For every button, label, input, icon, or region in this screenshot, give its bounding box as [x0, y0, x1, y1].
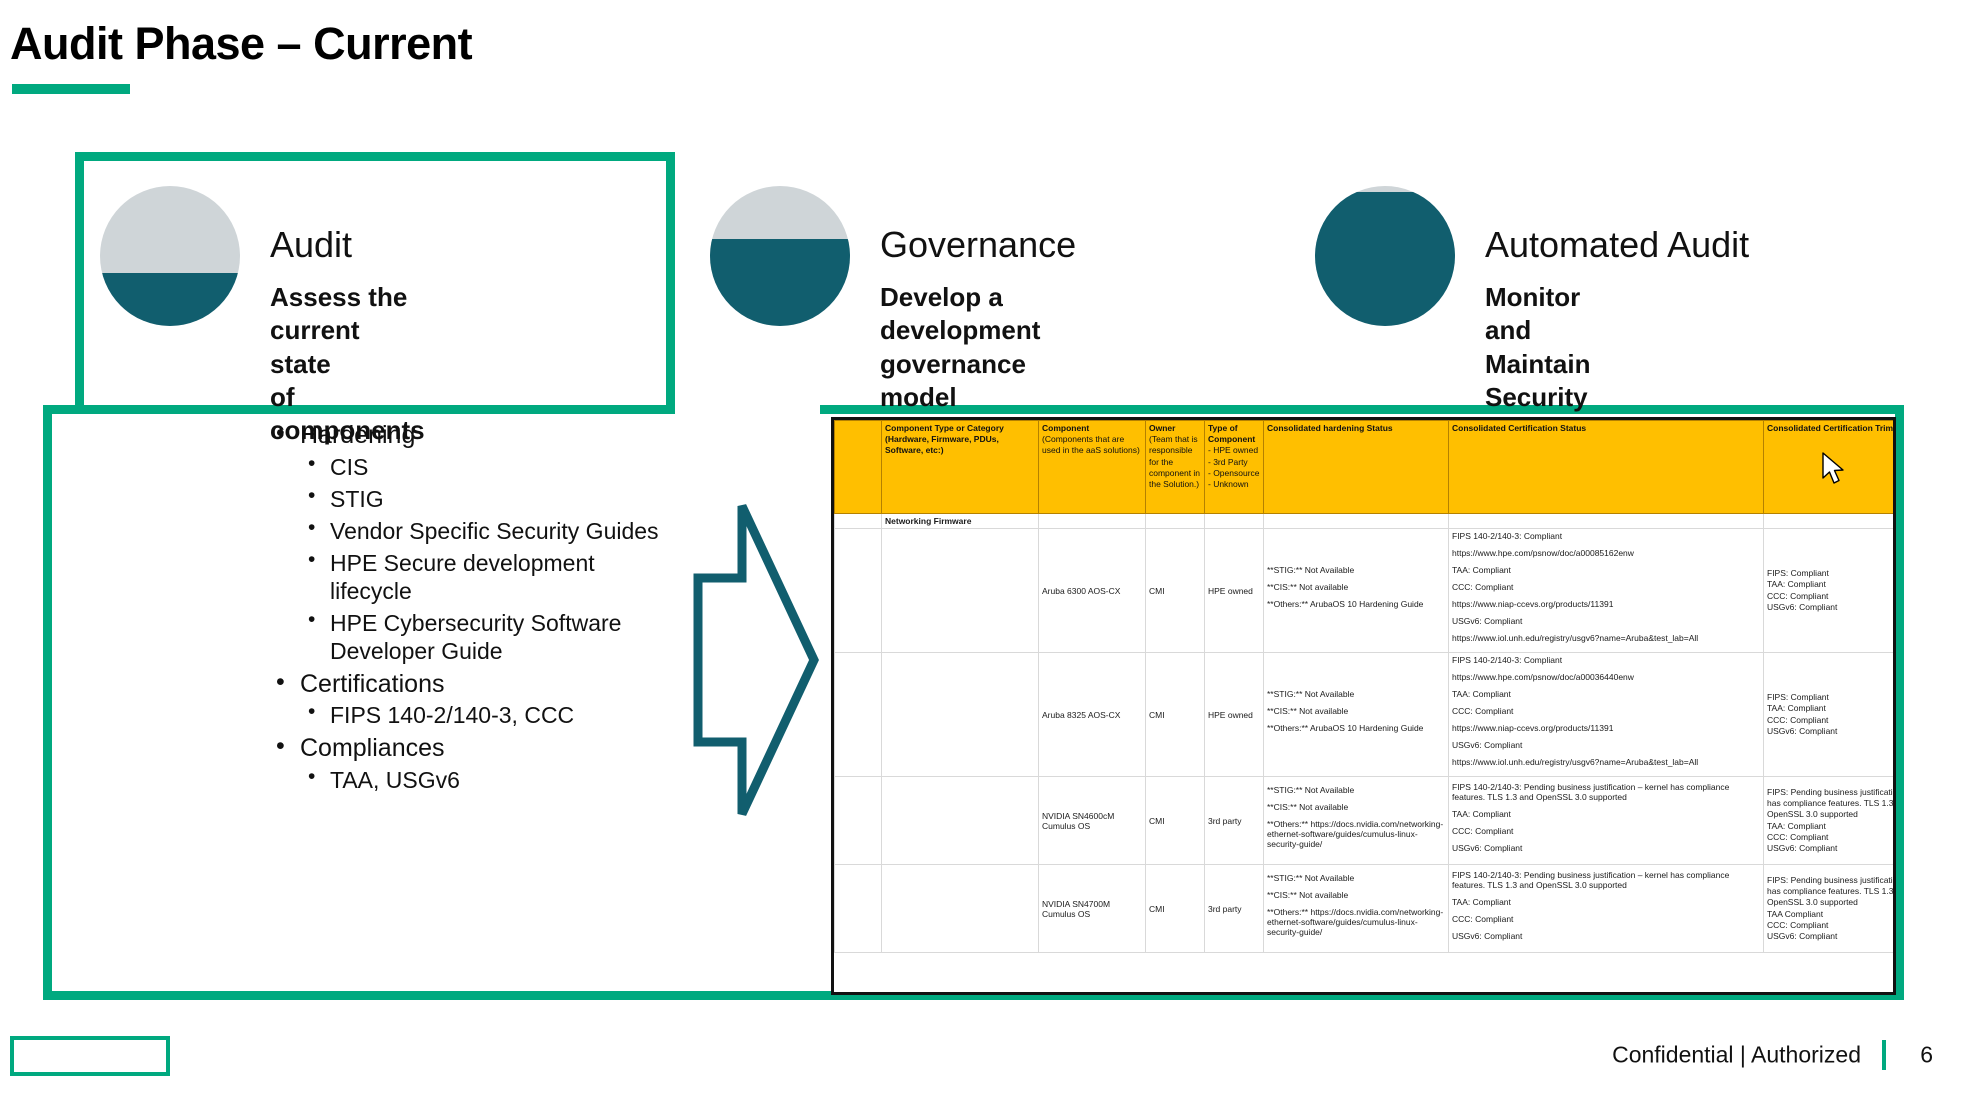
status-line: **STIG:** Not Available [1267, 785, 1445, 795]
phase-subtitle-line2: governance model [880, 348, 1040, 415]
phase-subtitle-line2: Security [1485, 381, 1590, 414]
row-index-cell [835, 653, 882, 777]
hardening-status-cell: **STIG:** Not Available **CIS:** Not ava… [1264, 529, 1449, 653]
right-arrow-icon [690, 500, 820, 825]
status-line: CCC: Compliant [1452, 914, 1760, 924]
status-link[interactable]: https://www.hpe.com/psnow/doc/a00036440e… [1452, 672, 1760, 682]
status-line: USGv6: Compliant [1767, 931, 1896, 942]
status-line: CCC: Compliant [1452, 826, 1760, 836]
type-cell: HPE owned [1205, 653, 1264, 777]
page-title: Audit Phase – Current [10, 18, 472, 70]
status-line: FIPS 140-2/140-3: Compliant [1452, 531, 1760, 541]
certification-status-cell: FIPS 140-2/140-3: Compliant https://www.… [1449, 653, 1764, 777]
certification-status-cell: FIPS 140-2/140-3: Pending business justi… [1449, 865, 1764, 953]
component-cell: NVIDIA SN4700M Cumulus OS [1039, 865, 1146, 953]
empty-cell [1146, 514, 1205, 529]
bullet-label: Compliances [300, 733, 670, 764]
owner-cell: CMI [1146, 529, 1205, 653]
status-line: **STIG:** Not Available [1267, 689, 1445, 699]
column-header-label: Consolidated Certification Trimmed Statu… [1767, 423, 1896, 433]
list-item: Certifications FIPS 140-2/140-3, CCC [270, 669, 670, 730]
status-line: TAA: Compliant [1767, 579, 1896, 590]
status-line: TAA: Compliant [1452, 809, 1760, 819]
certification-trimmed-cell: FIPS: Compliant TAA: Compliant CCC: Comp… [1764, 529, 1897, 653]
row-index-cell [835, 514, 882, 529]
bullet-list-level2: FIPS 140-2/140-3, CCC [300, 701, 670, 729]
status-line: TAA Compliant [1767, 909, 1896, 920]
status-line: TAA: Compliant [1452, 565, 1760, 575]
status-line: USGv6: Compliant [1452, 740, 1760, 750]
green-frame-right-lower [1895, 405, 1904, 1000]
bullet-label: Certifications [300, 669, 670, 700]
column-header-sublabel: - 3rd Party [1208, 457, 1260, 468]
column-header-index[interactable] [835, 421, 882, 514]
type-cell: 3rd party [1205, 865, 1264, 953]
phase-subtitle-line1: Assess the current state [270, 281, 425, 381]
component-cell: Aruba 8325 AOS-CX [1039, 653, 1146, 777]
table-category-row[interactable]: Networking Firmware [835, 514, 1897, 529]
phase-title-audit: Audit [270, 224, 352, 266]
column-header-type-of-component[interactable]: Type of Component - HPE owned - 3rd Part… [1205, 421, 1264, 514]
status-line: USGv6: Compliant [1767, 726, 1896, 737]
hardening-status-cell: **STIG:** Not Available **CIS:** Not ava… [1264, 653, 1449, 777]
status-line: FIPS: Pending business justification – k… [1767, 875, 1896, 909]
empty-cell [1039, 514, 1146, 529]
empty-cell [1449, 514, 1764, 529]
status-line: CCC: Compliant [1767, 920, 1896, 931]
category-label-cell: Networking Firmware [882, 514, 1039, 529]
column-header-label: Owner [1149, 423, 1175, 433]
row-index-cell [835, 777, 882, 865]
status-link[interactable]: https://www.iol.unh.edu/registry/usgv6?n… [1452, 633, 1760, 643]
list-item: HPE Cybersecurity Software Developer Gui… [300, 609, 670, 665]
status-line: TAA: Compliant [1452, 897, 1760, 907]
status-line: **CIS:** Not available [1267, 582, 1445, 592]
list-item: CIS [300, 453, 670, 481]
phase-title-automated-audit: Automated Audit [1485, 224, 1749, 266]
type-cell: HPE owned [1205, 529, 1264, 653]
status-line: **STIG:** Not Available [1267, 565, 1445, 575]
table-row[interactable]: Aruba 8325 AOS-CX CMI HPE owned **STIG:*… [835, 653, 1897, 777]
progress-circle-automated-audit [1315, 186, 1455, 326]
certification-trimmed-cell: FIPS: Pending business justification – k… [1764, 777, 1897, 865]
progress-circle-fill [100, 273, 240, 326]
status-line: FIPS: Pending business justification – k… [1767, 787, 1896, 821]
progress-circle-audit [100, 186, 240, 326]
column-header-sublabel: - HPE owned [1208, 445, 1260, 456]
column-header-label: Consolidated Certification Status [1452, 423, 1586, 433]
mouse-cursor-icon [1822, 452, 1848, 486]
status-line: TAA: Compliant [1452, 689, 1760, 699]
status-line: CCC: Compliant [1452, 582, 1760, 592]
status-line: FIPS 140-2/140-3: Pending business justi… [1452, 870, 1760, 890]
status-line: FIPS: Compliant [1767, 568, 1896, 579]
phase-subtitle-line1: Monitor and Maintain [1485, 281, 1590, 381]
status-line: CCC: Compliant [1767, 832, 1896, 843]
list-item: TAA, USGv6 [300, 766, 670, 794]
status-line: TAA: Compliant [1767, 821, 1896, 832]
status-line: **CIS:** Not available [1267, 890, 1445, 900]
bullet-label: Hardening [300, 420, 670, 451]
phase-subtitle-automated-audit: Monitor and Maintain Security [1485, 281, 1590, 414]
column-header-sublabel: (Components that are used in the aaS sol… [1042, 434, 1142, 456]
certification-status-cell: FIPS 140-2/140-3: Compliant https://www.… [1449, 529, 1764, 653]
column-header-owner[interactable]: Owner (Team that is responsible for the … [1146, 421, 1205, 514]
column-header-label: Component Type or Category (Hardware, Fi… [885, 423, 1004, 455]
type-cell: 3rd party [1205, 777, 1264, 865]
progress-circle-fill [710, 239, 850, 326]
bottom-left-accent-box [10, 1036, 170, 1076]
footer-classification: Confidential | Authorized [1612, 1042, 1861, 1069]
status-line: TAA: Compliant [1767, 703, 1896, 714]
progress-circle-fill [1315, 192, 1455, 326]
certification-trimmed-cell: FIPS: Pending business justification – k… [1764, 865, 1897, 953]
row-index-cell [835, 865, 882, 953]
column-header-certification-status[interactable]: Consolidated Certification Status [1449, 421, 1764, 514]
component-type-cell [882, 865, 1039, 953]
table-header-row: Component Type or Category (Hardware, Fi… [835, 421, 1897, 514]
bullet-list-level1: Hardening CIS STIG Vendor Specific Secur… [270, 420, 670, 794]
component-cell: Aruba 6300 AOS-CX [1039, 529, 1146, 653]
green-frame-top [75, 152, 675, 161]
row-index-cell [835, 529, 882, 653]
hardening-status-cell: **STIG:** Not Available **CIS:** Not ava… [1264, 865, 1449, 953]
list-item: HPE Secure development lifecycle [300, 549, 670, 605]
bullet-list-level2: CIS STIG Vendor Specific Security Guides… [300, 453, 670, 665]
status-link[interactable]: https://www.niap-ccevs.org/products/1139… [1452, 599, 1760, 609]
spreadsheet-screenshot[interactable]: Component Type or Category (Hardware, Fi… [831, 417, 1896, 995]
list-item: Hardening CIS STIG Vendor Specific Secur… [270, 420, 670, 665]
status-line: USGv6: Compliant [1767, 602, 1896, 613]
table-row[interactable]: Aruba 6300 AOS-CX CMI HPE owned **STIG:*… [835, 529, 1897, 653]
green-frame-left-lower [43, 405, 52, 1000]
empty-cell [1264, 514, 1449, 529]
status-line: **STIG:** Not Available [1267, 873, 1445, 883]
empty-cell [1764, 514, 1897, 529]
status-line: USGv6: Compliant [1452, 843, 1760, 853]
status-line: **CIS:** Not available [1267, 802, 1445, 812]
owner-cell: CMI [1146, 777, 1205, 865]
owner-cell: CMI [1146, 653, 1205, 777]
phase-subtitle-governance: Develop a development governance model [880, 281, 1040, 414]
certification-status-cell: FIPS 140-2/140-3: Pending business justi… [1449, 777, 1764, 865]
component-audit-table[interactable]: Component Type or Category (Hardware, Fi… [834, 420, 1896, 953]
owner-cell: CMI [1146, 865, 1205, 953]
footer-divider [1882, 1040, 1886, 1070]
footer-page-number: 6 [1920, 1042, 1933, 1069]
status-line: USGv6: Compliant [1767, 843, 1896, 854]
status-line: USGv6: Compliant [1452, 616, 1760, 626]
bullet-list-level2: TAA, USGv6 [300, 766, 670, 794]
title-underline-rule [12, 84, 130, 94]
status-line: CCC: Compliant [1767, 591, 1896, 602]
list-item: STIG [300, 485, 670, 513]
column-header-label: Consolidated hardening Status [1267, 423, 1393, 433]
status-line: FIPS: Compliant [1767, 692, 1896, 703]
status-link[interactable]: **Others:** https://docs.nvidia.com/netw… [1267, 907, 1445, 937]
green-frame-left-upper [75, 152, 84, 414]
table-row[interactable]: NVIDIA SN4700M Cumulus OS CMI 3rd party … [835, 865, 1897, 953]
certification-trimmed-cell: FIPS: Compliant TAA: Compliant CCC: Comp… [1764, 653, 1897, 777]
column-header-sublabel: - Unknown [1208, 479, 1260, 490]
column-header-sublabel: - Opensource [1208, 468, 1260, 479]
status-line: CCC: Compliant [1452, 706, 1760, 716]
progress-circle-governance [710, 186, 850, 326]
status-line: FIPS 140-2/140-3: Compliant [1452, 655, 1760, 665]
green-frame-right-upper [666, 152, 675, 414]
status-line: **Others:** ArubaOS 10 Hardening Guide [1267, 723, 1445, 733]
audit-bullet-list: Hardening CIS STIG Vendor Specific Secur… [270, 420, 670, 798]
column-header-component[interactable]: Component (Components that are used in t… [1039, 421, 1146, 514]
status-link[interactable]: https://www.niap-ccevs.org/products/1139… [1452, 723, 1760, 733]
phase-subtitle-line1: Develop a development [880, 281, 1040, 348]
status-line: USGv6: Compliant [1452, 931, 1760, 941]
status-link[interactable]: https://www.hpe.com/psnow/doc/a00085162e… [1452, 548, 1760, 558]
status-line: **Others:** ArubaOS 10 Hardening Guide [1267, 599, 1445, 609]
status-line: CCC: Compliant [1767, 715, 1896, 726]
column-header-sublabel: (Team that is responsible for the compon… [1149, 434, 1201, 490]
component-type-cell [882, 777, 1039, 865]
column-header-label: Type of Component [1208, 423, 1255, 444]
hardening-status-cell: **STIG:** Not Available **CIS:** Not ava… [1264, 777, 1449, 865]
status-link[interactable]: **Others:** https://docs.nvidia.com/netw… [1267, 819, 1445, 849]
phase-title-governance: Governance [880, 224, 1076, 266]
status-link[interactable]: https://www.iol.unh.edu/registry/usgv6?n… [1452, 757, 1760, 767]
component-type-cell [882, 529, 1039, 653]
status-line: FIPS 140-2/140-3: Pending business justi… [1452, 782, 1760, 802]
table-row[interactable]: NVIDIA SN4600cM Cumulus OS CMI 3rd party… [835, 777, 1897, 865]
column-header-label: Component [1042, 423, 1089, 433]
component-cell: NVIDIA SN4600cM Cumulus OS [1039, 777, 1146, 865]
list-item: Compliances TAA, USGv6 [270, 733, 670, 794]
status-line: **CIS:** Not available [1267, 706, 1445, 716]
component-type-cell [882, 653, 1039, 777]
empty-cell [1205, 514, 1264, 529]
column-header-component-type[interactable]: Component Type or Category (Hardware, Fi… [882, 421, 1039, 514]
list-item: Vendor Specific Security Guides [300, 517, 670, 545]
list-item: FIPS 140-2/140-3, CCC [300, 701, 670, 729]
column-header-hardening-status[interactable]: Consolidated hardening Status [1264, 421, 1449, 514]
